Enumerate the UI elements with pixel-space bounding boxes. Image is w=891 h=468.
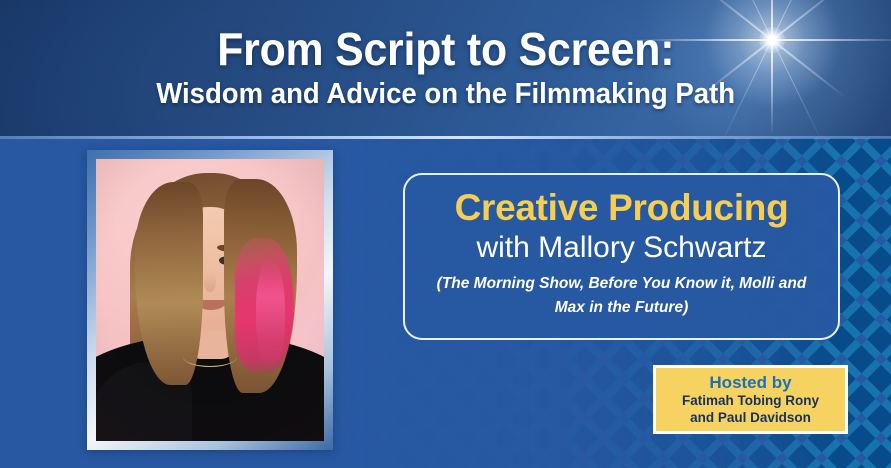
header-divider: [0, 136, 891, 139]
page-title: From Script to Screen:: [217, 26, 674, 72]
page-subtitle: Wisdom and Advice on the Filmmaking Path: [156, 79, 735, 109]
speaker-photo-frame: [87, 150, 333, 450]
poster-header: From Script to Screen: Wisdom and Advice…: [0, 0, 891, 136]
event-promo-poster: From Script to Screen: Wisdom and Advice…: [0, 0, 891, 468]
hosted-by-box: Hosted by Fatimah Tobing Rony and Paul D…: [653, 365, 848, 434]
session-speaker: with Mallory Schwartz: [476, 231, 766, 264]
header-text-block: From Script to Screen: Wisdom and Advice…: [0, 0, 891, 136]
session-card: Creative Producing with Mallory Schwartz…: [403, 173, 840, 340]
host-name-line-1: Fatimah Tobing Rony: [682, 393, 819, 408]
photo-vignette: [96, 159, 324, 441]
speaker-photo: [96, 159, 324, 441]
hosted-by-names: Fatimah Tobing Rony and Paul Davidson: [682, 393, 819, 426]
session-credits: (The Morning Show, Before You Know it, M…: [422, 272, 822, 320]
session-title: Creative Producing: [455, 189, 789, 228]
host-name-line-2: and Paul Davidson: [690, 410, 811, 425]
hosted-by-label: Hosted by: [709, 373, 791, 392]
